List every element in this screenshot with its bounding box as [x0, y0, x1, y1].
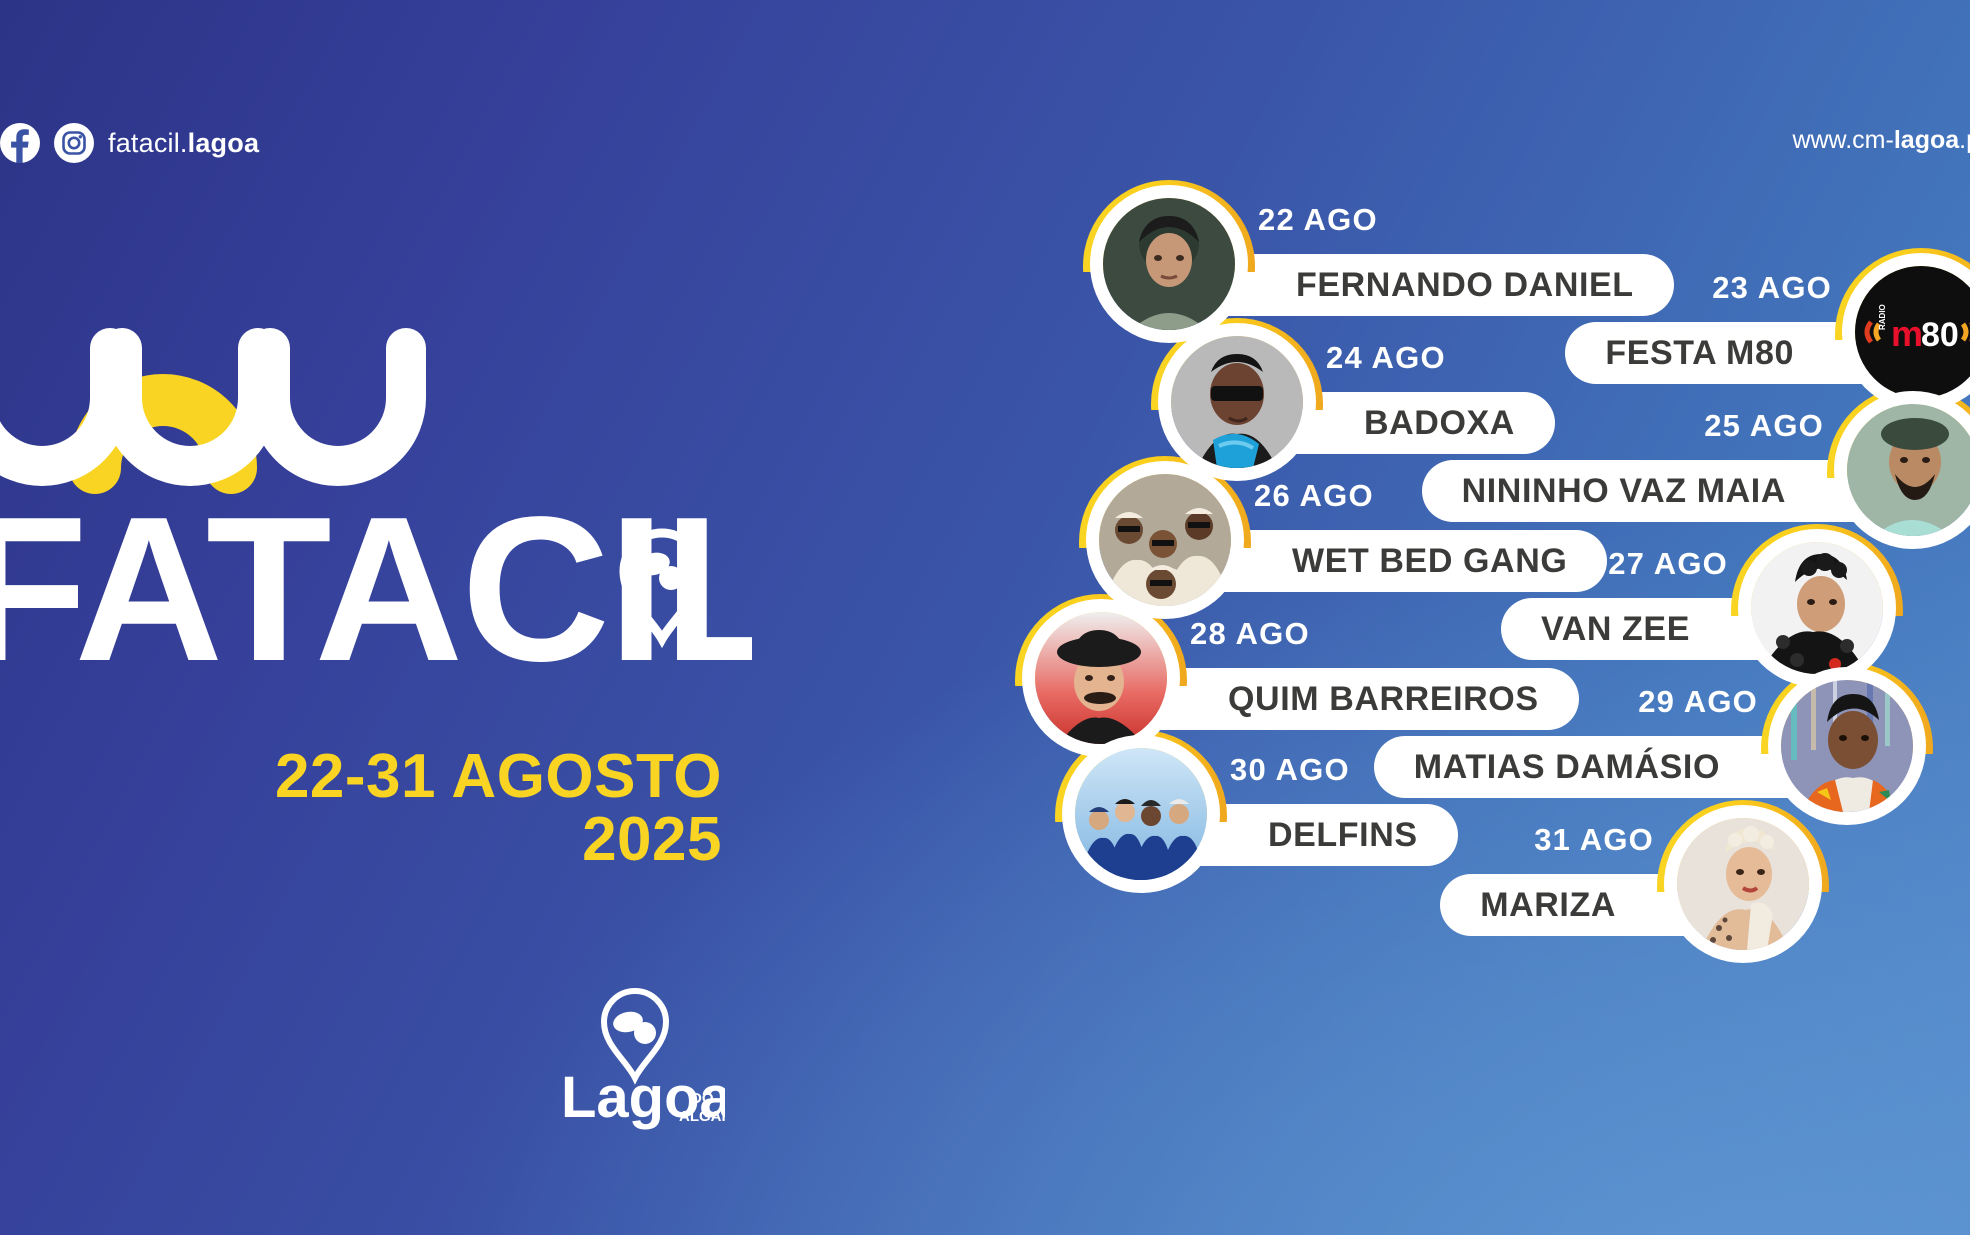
- lineup-artist-name: QUIM BARREIROS: [1228, 680, 1539, 719]
- svg-text:RADIO: RADIO: [1878, 304, 1887, 330]
- artist-photo-wet-bed-gang: [1099, 474, 1231, 606]
- artist-photo-van-zee: [1751, 542, 1883, 674]
- lineup-artist-name: NININHO VAZ MAIA: [1462, 472, 1786, 511]
- lineup-artist-name: MARIZA: [1480, 886, 1616, 925]
- artist-photo-badoxa: [1171, 336, 1303, 468]
- lineup-date: 28 AGO: [1190, 616, 1310, 652]
- artist-photo-matias-damasio: [1781, 680, 1913, 812]
- artist-photo-quim-barreiros: [1035, 612, 1167, 744]
- festival-poster: fatacil.lagoa www.cm-lagoa.p FATACIL 22-…: [0, 0, 1970, 1235]
- lineup-list: 22 AGO FERNANDO DANIEL RADIO m: [0, 0, 1970, 1235]
- lineup-artist-name: FERNANDO DANIEL: [1296, 266, 1634, 305]
- artist-photo-nininho-vaz-maia: [1847, 404, 1970, 536]
- lineup-date: 22 AGO: [1258, 202, 1378, 238]
- svg-text:80: 80: [1921, 316, 1959, 354]
- lineup-artist-name: FESTA M80: [1605, 334, 1794, 373]
- lineup-artist-name: WET BED GANG: [1292, 542, 1567, 581]
- lineup-date: 24 AGO: [1326, 340, 1446, 376]
- lineup-date: 25 AGO: [1704, 408, 1824, 444]
- lineup-date: 29 AGO: [1638, 684, 1758, 720]
- lineup-artist-name: BADOXA: [1364, 404, 1515, 443]
- lineup-date: 26 AGO: [1254, 478, 1374, 514]
- artist-photo-mariza: [1677, 818, 1809, 950]
- lineup-date: 27 AGO: [1608, 546, 1728, 582]
- m80-logo-icon: RADIO m 80: [1855, 266, 1970, 398]
- artist-photo-festa-m80: RADIO m 80: [1855, 266, 1970, 398]
- lineup-artist-name: VAN ZEE: [1541, 610, 1690, 649]
- artist-photo-delfins: [1075, 748, 1207, 880]
- lineup-artist-name: MATIAS DAMÁSIO: [1414, 748, 1720, 787]
- lineup-date: 30 AGO: [1230, 752, 1350, 788]
- artist-photo-fernando-daniel: [1103, 198, 1235, 330]
- lineup-date: 31 AGO: [1534, 822, 1654, 858]
- svg-text:m: m: [1891, 313, 1923, 354]
- lineup-date: 23 AGO: [1712, 270, 1832, 306]
- lineup-artist-name: DELFINS: [1268, 816, 1418, 855]
